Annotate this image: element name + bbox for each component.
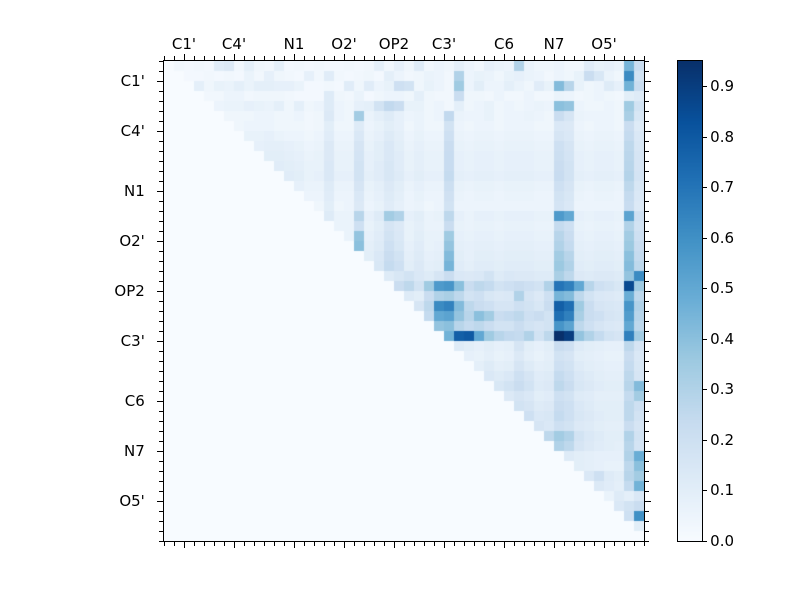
- x-tick-bottom: [414, 542, 415, 546]
- y-tick-left: [159, 321, 163, 322]
- x-tick-top: [614, 56, 615, 60]
- colorbar-label-6: 0.6: [710, 229, 734, 247]
- x-axis-label-5: C3': [432, 35, 456, 53]
- y-tick-left: [159, 281, 163, 282]
- x-tick-bottom: [424, 542, 425, 546]
- x-tick-top: [304, 56, 305, 60]
- x-tick-bottom: [384, 542, 385, 546]
- x-tick-top: [374, 56, 375, 60]
- x-axis-label-8: O5': [591, 35, 616, 53]
- colorbar[interactable]: 0.00.10.20.30.40.50.60.70.80.9: [677, 60, 703, 542]
- y-tick-left: [159, 411, 163, 412]
- colorbar-label-7: 0.7: [710, 178, 734, 196]
- y-tick-right: [645, 361, 649, 362]
- x-tick-top: [224, 56, 225, 60]
- x-tick-bottom: [554, 542, 555, 548]
- figure-canvas: C1'C4'N1O2'OP2C3'C6N7O5' C1'C4'N1O2'OP2C…: [0, 0, 800, 600]
- heatmap-axes[interactable]: C1'C4'N1O2'OP2C3'C6N7O5' C1'C4'N1O2'OP2C…: [163, 60, 645, 542]
- x-tick-bottom: [354, 542, 355, 546]
- y-tick-left: [159, 271, 163, 272]
- x-tick-bottom: [204, 542, 205, 546]
- x-tick-top: [184, 54, 185, 60]
- y-tick-right: [645, 541, 649, 542]
- y-tick-right: [645, 181, 649, 182]
- x-tick-top: [294, 54, 295, 60]
- x-tick-top: [164, 56, 165, 60]
- y-tick-right: [645, 471, 649, 472]
- x-tick-bottom: [214, 542, 215, 546]
- colorbar-gradient: [678, 61, 702, 541]
- y-tick-right: [645, 191, 651, 192]
- colorbar-tick-6: [702, 238, 707, 239]
- x-tick-bottom: [514, 542, 515, 546]
- x-tick-top: [514, 56, 515, 60]
- y-tick-left: [159, 351, 163, 352]
- x-tick-bottom: [454, 542, 455, 546]
- x-tick-bottom: [184, 542, 185, 548]
- x-tick-top: [194, 56, 195, 60]
- y-tick-left: [159, 311, 163, 312]
- x-tick-top: [284, 56, 285, 60]
- y-tick-left: [159, 181, 163, 182]
- y-tick-right: [645, 411, 649, 412]
- x-tick-bottom: [314, 542, 315, 546]
- y-tick-right: [645, 431, 649, 432]
- x-tick-bottom: [474, 542, 475, 546]
- y-tick-right: [645, 81, 651, 82]
- y-tick-left: [157, 241, 163, 242]
- y-tick-right: [645, 441, 649, 442]
- y-axis-label-7: N7: [124, 442, 145, 460]
- colorbar-tick-4: [702, 339, 707, 340]
- y-tick-left: [159, 171, 163, 172]
- x-tick-top: [454, 56, 455, 60]
- y-tick-right: [645, 381, 649, 382]
- y-tick-right: [645, 241, 651, 242]
- y-tick-left: [159, 101, 163, 102]
- y-axis-label-8: O5': [119, 492, 144, 510]
- y-tick-right: [645, 501, 651, 502]
- x-tick-bottom: [284, 542, 285, 546]
- y-tick-right: [645, 511, 649, 512]
- x-tick-top: [594, 56, 595, 60]
- x-tick-bottom: [584, 542, 585, 546]
- x-tick-bottom: [174, 542, 175, 546]
- y-tick-left: [159, 491, 163, 492]
- y-tick-left: [159, 431, 163, 432]
- y-tick-right: [645, 451, 651, 452]
- x-tick-top: [604, 54, 605, 60]
- x-tick-bottom: [234, 542, 235, 548]
- y-tick-right: [645, 261, 649, 262]
- x-tick-bottom: [264, 542, 265, 546]
- colorbar-tick-3: [702, 389, 707, 390]
- y-tick-right: [645, 211, 649, 212]
- y-tick-left: [159, 201, 163, 202]
- x-tick-bottom: [344, 542, 345, 548]
- y-tick-right: [645, 401, 651, 402]
- y-tick-left: [159, 151, 163, 152]
- x-tick-top: [504, 54, 505, 60]
- y-tick-right: [645, 251, 649, 252]
- y-axis-label-1: C4': [121, 122, 145, 140]
- x-tick-top: [434, 56, 435, 60]
- y-tick-right: [645, 111, 649, 112]
- y-tick-left: [159, 441, 163, 442]
- colorbar-label-3: 0.3: [710, 380, 734, 398]
- x-tick-bottom: [334, 542, 335, 546]
- x-tick-top: [554, 54, 555, 60]
- y-tick-right: [645, 421, 649, 422]
- y-tick-right: [645, 311, 649, 312]
- x-tick-bottom: [504, 542, 505, 548]
- y-tick-left: [157, 291, 163, 292]
- y-tick-left: [159, 531, 163, 532]
- x-tick-top: [204, 56, 205, 60]
- x-tick-top: [264, 56, 265, 60]
- x-tick-bottom: [394, 542, 395, 548]
- colorbar-label-9: 0.9: [710, 77, 734, 95]
- y-tick-left: [157, 131, 163, 132]
- y-tick-left: [159, 361, 163, 362]
- colorbar-tick-1: [702, 490, 707, 491]
- x-axis-label-7: N7: [544, 35, 565, 53]
- x-tick-bottom: [224, 542, 225, 546]
- x-tick-bottom: [534, 542, 535, 546]
- colorbar-label-5: 0.5: [710, 279, 734, 297]
- y-tick-left: [159, 211, 163, 212]
- colorbar-label-0: 0.0: [710, 532, 734, 550]
- x-tick-bottom: [294, 542, 295, 548]
- y-tick-left: [159, 471, 163, 472]
- y-tick-right: [645, 491, 649, 492]
- y-tick-right: [645, 301, 649, 302]
- x-axis-label-1: C4': [222, 35, 246, 53]
- x-tick-top: [634, 56, 635, 60]
- x-tick-top: [484, 56, 485, 60]
- x-tick-top: [444, 54, 445, 60]
- x-tick-top: [324, 56, 325, 60]
- y-tick-right: [645, 91, 649, 92]
- y-axis-label-2: N1: [124, 182, 145, 200]
- x-tick-top: [424, 56, 425, 60]
- y-tick-left: [157, 191, 163, 192]
- y-tick-left: [159, 141, 163, 142]
- y-tick-right: [645, 461, 649, 462]
- y-tick-right: [645, 351, 649, 352]
- heatmap-matrix[interactable]: [164, 61, 644, 541]
- x-tick-bottom: [564, 542, 565, 546]
- y-tick-left: [159, 91, 163, 92]
- x-tick-top: [254, 56, 255, 60]
- x-tick-top: [624, 56, 625, 60]
- y-tick-left: [157, 401, 163, 402]
- y-axis-label-6: C6: [125, 392, 145, 410]
- x-tick-bottom: [374, 542, 375, 546]
- y-tick-left: [159, 71, 163, 72]
- x-tick-top: [644, 56, 645, 60]
- y-tick-left: [159, 391, 163, 392]
- y-tick-right: [645, 521, 649, 522]
- x-tick-top: [364, 56, 365, 60]
- y-tick-left: [159, 511, 163, 512]
- x-tick-bottom: [304, 542, 305, 546]
- colorbar-tick-0: [702, 541, 707, 542]
- y-axis-label-5: C3': [121, 332, 145, 350]
- x-tick-top: [574, 56, 575, 60]
- y-tick-left: [159, 231, 163, 232]
- x-tick-bottom: [574, 542, 575, 546]
- colorbar-tick-9: [702, 86, 707, 87]
- y-tick-right: [645, 171, 649, 172]
- y-tick-left: [159, 261, 163, 262]
- y-tick-left: [159, 481, 163, 482]
- y-tick-right: [645, 331, 649, 332]
- x-tick-top: [214, 56, 215, 60]
- y-tick-left: [159, 371, 163, 372]
- x-axis-label-2: N1: [284, 35, 305, 53]
- y-tick-right: [645, 61, 649, 62]
- x-tick-top: [314, 56, 315, 60]
- y-tick-right: [645, 201, 649, 202]
- y-tick-left: [159, 121, 163, 122]
- x-tick-bottom: [644, 542, 645, 546]
- y-tick-right: [645, 131, 651, 132]
- y-tick-left: [159, 111, 163, 112]
- y-tick-left: [157, 501, 163, 502]
- y-tick-right: [645, 341, 651, 342]
- x-tick-bottom: [524, 542, 525, 546]
- colorbar-tick-7: [702, 187, 707, 188]
- x-tick-top: [534, 56, 535, 60]
- y-tick-right: [645, 231, 649, 232]
- x-tick-top: [394, 54, 395, 60]
- y-axis-label-0: C1': [121, 72, 145, 90]
- x-tick-bottom: [494, 542, 495, 546]
- y-tick-left: [159, 301, 163, 302]
- y-tick-right: [645, 141, 649, 142]
- x-tick-bottom: [464, 542, 465, 546]
- y-tick-left: [159, 161, 163, 162]
- x-tick-bottom: [194, 542, 195, 546]
- colorbar-label-8: 0.8: [710, 128, 734, 146]
- x-tick-top: [494, 56, 495, 60]
- y-tick-right: [645, 71, 649, 72]
- x-tick-bottom: [274, 542, 275, 546]
- x-tick-top: [474, 56, 475, 60]
- x-axis-label-0: C1': [172, 35, 196, 53]
- x-tick-bottom: [634, 542, 635, 546]
- x-tick-bottom: [604, 542, 605, 548]
- y-tick-right: [645, 531, 649, 532]
- y-tick-right: [645, 291, 651, 292]
- y-tick-left: [157, 81, 163, 82]
- x-tick-top: [234, 54, 235, 60]
- x-tick-top: [344, 54, 345, 60]
- y-tick-right: [645, 221, 649, 222]
- x-tick-bottom: [484, 542, 485, 546]
- y-tick-left: [159, 221, 163, 222]
- colorbar-tick-2: [702, 440, 707, 441]
- y-tick-right: [645, 161, 649, 162]
- x-axis-label-6: C6: [494, 35, 514, 53]
- x-tick-top: [544, 56, 545, 60]
- y-tick-right: [645, 121, 649, 122]
- y-tick-right: [645, 481, 649, 482]
- y-tick-left: [159, 421, 163, 422]
- y-tick-left: [159, 541, 163, 542]
- y-tick-left: [159, 251, 163, 252]
- x-tick-top: [354, 56, 355, 60]
- y-tick-left: [159, 61, 163, 62]
- y-tick-left: [157, 341, 163, 342]
- x-tick-bottom: [324, 542, 325, 546]
- colorbar-tick-8: [702, 137, 707, 138]
- y-tick-right: [645, 151, 649, 152]
- x-tick-bottom: [364, 542, 365, 546]
- y-tick-left: [159, 521, 163, 522]
- colorbar-label-1: 0.1: [710, 481, 734, 499]
- x-tick-top: [404, 56, 405, 60]
- x-tick-bottom: [254, 542, 255, 546]
- y-tick-right: [645, 391, 649, 392]
- y-tick-right: [645, 271, 649, 272]
- x-tick-top: [584, 56, 585, 60]
- colorbar-tick-5: [702, 288, 707, 289]
- x-tick-bottom: [434, 542, 435, 546]
- x-tick-top: [334, 56, 335, 60]
- x-tick-bottom: [594, 542, 595, 546]
- y-tick-right: [645, 281, 649, 282]
- y-tick-left: [159, 461, 163, 462]
- x-tick-bottom: [244, 542, 245, 546]
- y-tick-right: [645, 371, 649, 372]
- y-tick-left: [157, 451, 163, 452]
- x-tick-bottom: [164, 542, 165, 546]
- x-tick-bottom: [614, 542, 615, 546]
- x-tick-bottom: [404, 542, 405, 546]
- colorbar-label-4: 0.4: [710, 330, 734, 348]
- x-tick-top: [564, 56, 565, 60]
- y-tick-left: [159, 381, 163, 382]
- x-tick-top: [244, 56, 245, 60]
- x-tick-top: [414, 56, 415, 60]
- x-tick-top: [384, 56, 385, 60]
- y-tick-right: [645, 321, 649, 322]
- x-axis-label-3: O2': [331, 35, 356, 53]
- y-axis-label-3: O2': [119, 232, 144, 250]
- x-tick-bottom: [544, 542, 545, 546]
- x-axis-label-4: OP2: [379, 35, 409, 53]
- x-tick-bottom: [624, 542, 625, 546]
- y-tick-left: [159, 331, 163, 332]
- x-tick-top: [464, 56, 465, 60]
- x-tick-top: [524, 56, 525, 60]
- colorbar-label-2: 0.2: [710, 431, 734, 449]
- y-axis-label-4: OP2: [114, 282, 144, 300]
- x-tick-bottom: [444, 542, 445, 548]
- x-tick-top: [174, 56, 175, 60]
- x-tick-top: [274, 56, 275, 60]
- y-tick-right: [645, 101, 649, 102]
